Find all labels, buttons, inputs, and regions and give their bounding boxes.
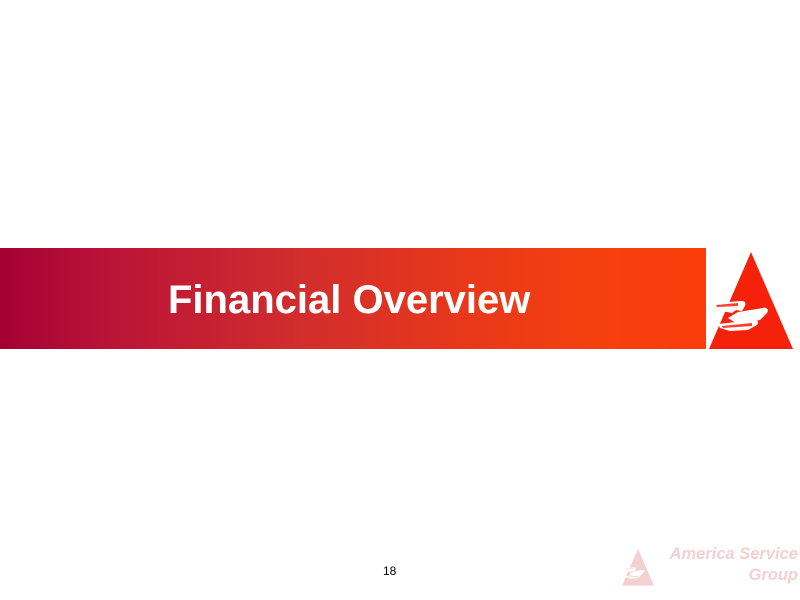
slide-canvas: Financial Overview 18 (0, 0, 800, 600)
page-number: 18 (383, 564, 396, 578)
footer-logo-line-1: America Service (656, 544, 798, 565)
footer-logo-text: America Service Group (656, 544, 798, 586)
eagle-triangle-logo-icon (708, 250, 794, 350)
footer-logo: America Service Group (618, 544, 798, 590)
footer-logo-line-2: Group (656, 565, 798, 586)
page-title: Financial Overview (168, 275, 568, 325)
eagle-triangle-logo-icon (618, 548, 658, 586)
